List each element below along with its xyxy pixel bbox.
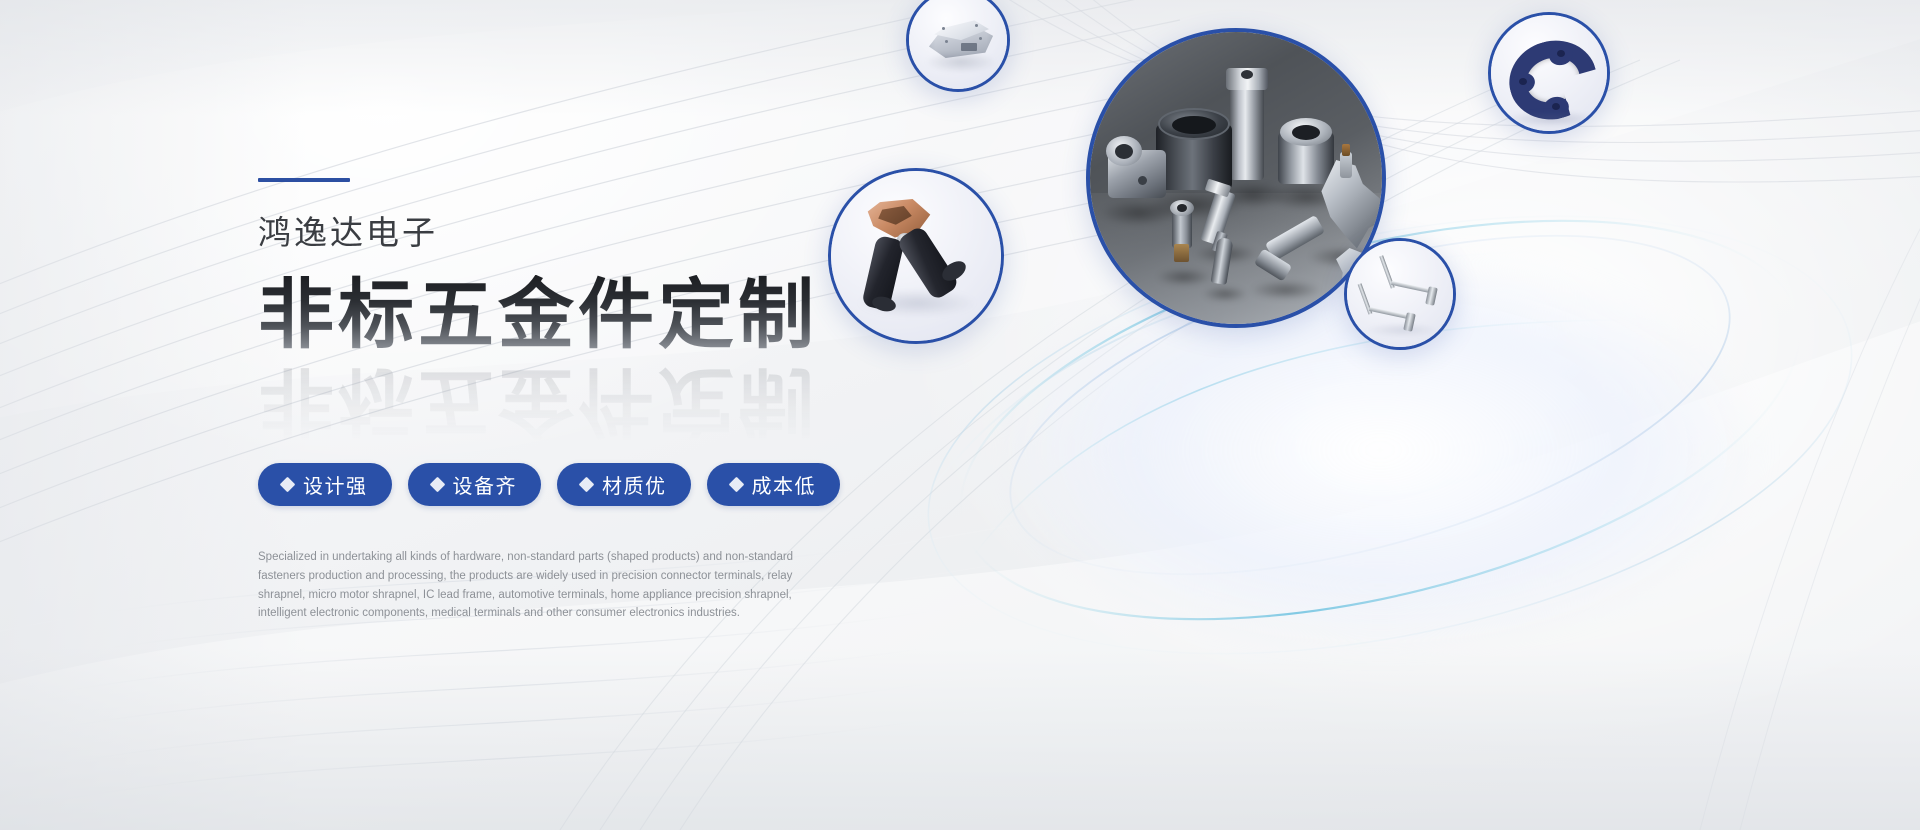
hardware-parts-image bbox=[1090, 32, 1382, 324]
diamond-icon bbox=[280, 477, 296, 493]
battery-clamp-image bbox=[831, 171, 1001, 341]
page-title: 非标五金件定制 bbox=[258, 275, 818, 356]
headline-wrapper: 非标五金件定制 非标五金件定制 bbox=[258, 275, 898, 403]
pin-terminals-image bbox=[1347, 241, 1453, 347]
product-circle-enclosure-box[interactable] bbox=[906, 0, 1010, 92]
diamond-icon bbox=[429, 477, 445, 493]
product-circle-pin-terminals[interactable] bbox=[1344, 238, 1456, 350]
product-circle-hardware-parts[interactable] bbox=[1086, 28, 1386, 328]
headline-reflection: 非标五金件定制 bbox=[258, 361, 818, 442]
diamond-icon bbox=[728, 477, 744, 493]
feature-badge-equipment[interactable]: 设备齐 bbox=[408, 463, 542, 506]
retaining-ring-image bbox=[1491, 15, 1607, 131]
product-collage bbox=[850, 0, 1920, 830]
feature-badge-label: 成本低 bbox=[752, 470, 817, 499]
feature-badge-label: 设备齐 bbox=[453, 470, 518, 499]
feature-badge-cost[interactable]: 成本低 bbox=[707, 463, 841, 506]
feature-badge-design[interactable]: 设计强 bbox=[258, 463, 392, 506]
feature-badge-material[interactable]: 材质优 bbox=[557, 463, 691, 506]
hero-content: 鸿逸达电子 非标五金件定制 非标五金件定制 设计强 设备齐 材质优 成本低 bbox=[258, 178, 898, 623]
feature-badge-label: 设计强 bbox=[303, 470, 368, 499]
product-circle-retaining-ring[interactable] bbox=[1488, 12, 1610, 134]
enclosure-box-image bbox=[909, 0, 1007, 89]
description-paragraph: Specialized in undertaking all kinds of … bbox=[258, 548, 828, 623]
hero-banner: 鸿逸达电子 非标五金件定制 非标五金件定制 设计强 设备齐 材质优 成本低 bbox=[0, 0, 1920, 830]
product-circle-battery-clamp[interactable] bbox=[828, 168, 1004, 344]
feature-badge-label: 材质优 bbox=[602, 470, 667, 499]
orbit-arcs bbox=[850, 0, 1920, 830]
feature-badge-list: 设计强 设备齐 材质优 成本低 bbox=[258, 463, 898, 506]
brand-name: 鸿逸达电子 bbox=[258, 212, 898, 253]
diamond-icon bbox=[579, 477, 595, 493]
accent-rule bbox=[258, 178, 350, 182]
